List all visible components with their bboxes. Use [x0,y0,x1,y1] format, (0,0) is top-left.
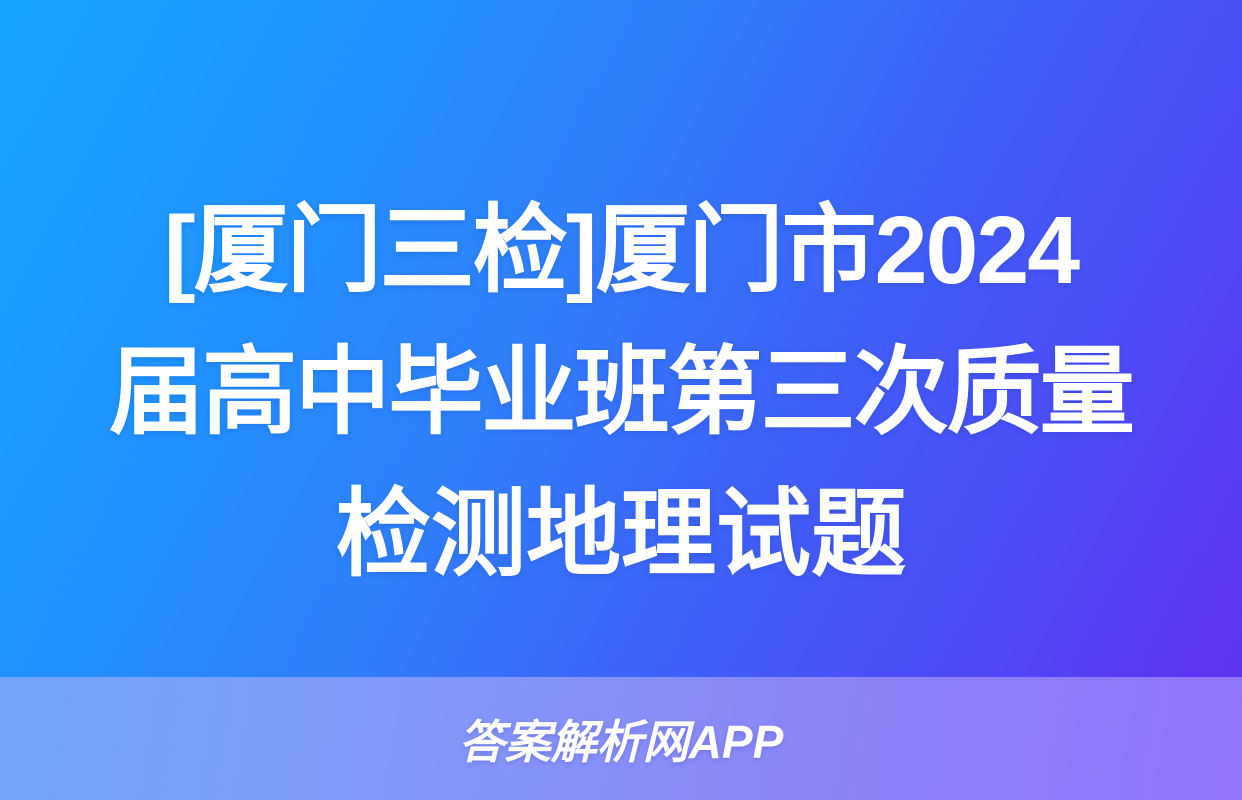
app-watermark-banner: 答案解析网APP [0,677,1242,800]
title-line-1: [厦门三检]厦门市2024 [105,180,1137,322]
page-title: [厦门三检]厦门市2024 届高中毕业班第三次质量 检测地理试题 [0,180,1242,606]
poster-canvas: [厦门三检]厦门市2024 届高中毕业班第三次质量 检测地理试题 答案解析网AP… [0,0,1242,800]
title-line-2: 届高中毕业班第三次质量 [105,322,1137,464]
title-line-3: 检测地理试题 [105,464,1137,606]
app-watermark-label: 答案解析网APP [459,706,784,772]
